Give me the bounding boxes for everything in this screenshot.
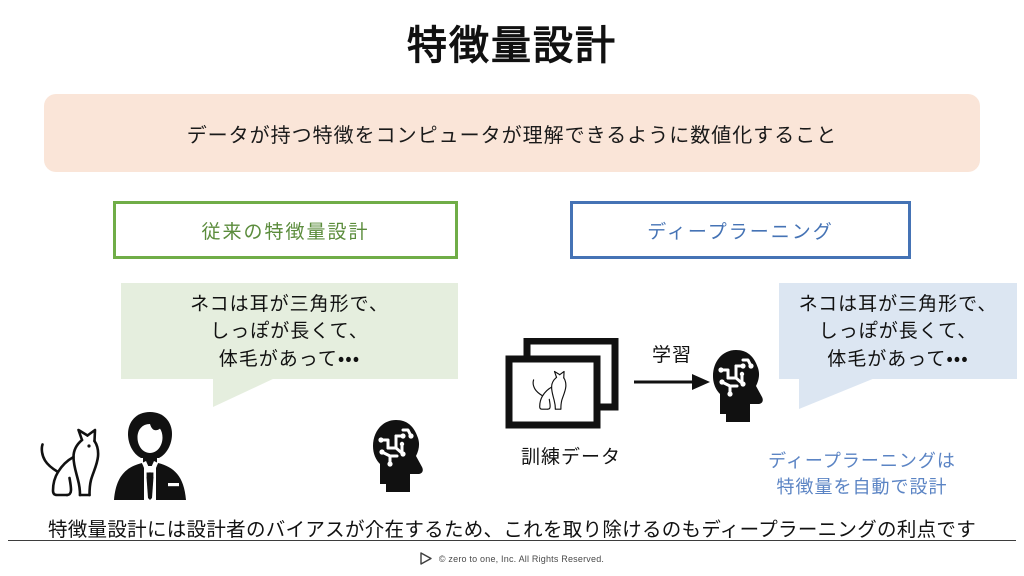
speech-bubble-dl-line-1: ネコは耳が三角形で、 — [797, 291, 999, 319]
speech-bubble-classic-tail — [213, 378, 275, 407]
speech-bubble-deep-learning-tail — [799, 378, 875, 409]
speech-bubble-classic: ネコは耳が三角形で、 しっぽが長くて、 体毛があって・・・ — [121, 283, 458, 379]
slide-canvas: 特徴量設計 データが持つ特徴をコンピュータが理解できるように数値化すること 従来… — [0, 0, 1024, 576]
ai-head-icon — [370, 418, 432, 499]
ai-head-icon-result — [710, 348, 772, 429]
column-header-classic-label: 従来の特徴量設計 — [201, 217, 369, 244]
column-header-classic: 従来の特徴量設計 — [113, 201, 458, 259]
footer-copyright: © zero to one, Inc. All Rights Reserved. — [439, 554, 604, 564]
definition-text: データが持つ特徴をコンピュータが理解できるように数値化すること — [187, 119, 838, 148]
photo-stack-icon — [505, 338, 619, 435]
bottom-divider — [8, 540, 1016, 541]
training-data-label: 訓練データ — [486, 442, 656, 469]
play-triangle-logo — [420, 552, 432, 565]
speech-bubble-deep-learning-body: ネコは耳が三角形で、 しっぽが長くて、 体毛があって・・・ — [779, 283, 1017, 379]
deep-learning-note: ディープラーニングは 特徴量を自動で設計 — [700, 448, 1024, 500]
learning-arrow-label: 学習 — [628, 346, 716, 365]
definition-banner: データが持つ特徴をコンピュータが理解できるように数値化すること — [44, 94, 980, 172]
deep-learning-note-line-1: ディープラーニングは — [700, 448, 1024, 474]
column-header-deep-learning: ディープラーニング — [570, 201, 911, 259]
speech-bubble-classic-line-2: しっぽが長くて、 — [139, 318, 440, 346]
column-header-deep-learning-label: ディープラーニング — [647, 217, 834, 244]
deep-learning-note-line-2: 特徴量を自動で設計 — [700, 474, 1024, 500]
speech-bubble-dl-line-3: 体毛があって・・・ — [797, 346, 999, 374]
cat-icon — [38, 424, 100, 505]
speech-bubble-classic-line-1: ネコは耳が三角形で、 — [139, 291, 440, 319]
learning-arrow-block: 学習 — [628, 346, 716, 398]
speech-bubble-dl-line-2: しっぽが長くて、 — [797, 318, 999, 346]
speech-bubble-classic-line-3: 体毛があって・・・ — [139, 346, 440, 374]
speech-bubble-classic-body: ネコは耳が三角形で、 しっぽが長くて、 体毛があって・・・ — [121, 283, 458, 379]
businessman-icon — [108, 410, 192, 507]
footer: © zero to one, Inc. All Rights Reserved. — [0, 552, 1024, 565]
right-arrow-icon — [632, 371, 712, 393]
bottom-caption: 特徴量設計には設計者のバイアスが介在するため、これを取り除けるのもディープラーニ… — [6, 513, 1018, 542]
page-title: 特徴量設計 — [0, 22, 1024, 70]
speech-bubble-deep-learning: ネコは耳が三角形で、 しっぽが長くて、 体毛があって・・・ — [779, 283, 1017, 379]
